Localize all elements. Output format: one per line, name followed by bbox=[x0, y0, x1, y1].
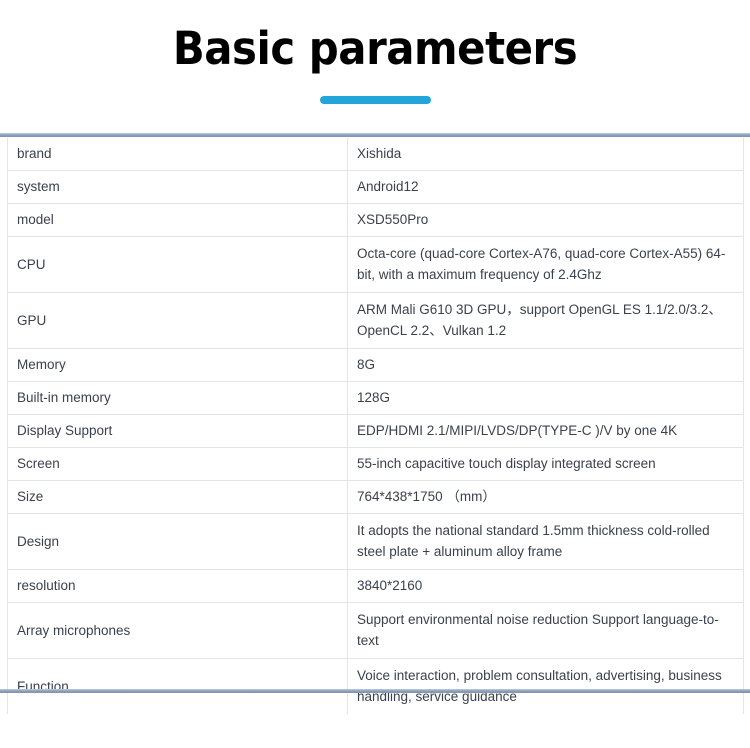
spec-label-cell: Size bbox=[8, 481, 348, 514]
spec-value-cell: ARM Mali G610 3D GPU，support OpenGL ES 1… bbox=[348, 293, 744, 349]
table-row: resolution3840*2160 bbox=[8, 570, 744, 603]
spec-value-cell: Octa-core (quad-core Cortex-A76, quad-co… bbox=[348, 237, 744, 293]
spec-label-cell: Design bbox=[8, 514, 348, 570]
table-row: Size764*438*1750 （mm） bbox=[8, 481, 744, 514]
table-top-rule bbox=[0, 133, 750, 137]
table-row: Built-in memory128G bbox=[8, 382, 744, 415]
table-row: FunctionVoice interaction, problem consu… bbox=[8, 659, 744, 715]
table-row: Display SupportEDP/HDMI 2.1/MIPI/LVDS/DP… bbox=[8, 415, 744, 448]
spec-table-container: brandXishidasystemAndroid12modelXSD550Pr… bbox=[7, 138, 743, 714]
spec-table: brandXishidasystemAndroid12modelXSD550Pr… bbox=[7, 138, 744, 714]
title-accent-bar bbox=[320, 96, 431, 104]
spec-table-body: brandXishidasystemAndroid12modelXSD550Pr… bbox=[8, 138, 744, 714]
spec-value-cell: 8G bbox=[348, 349, 744, 382]
spec-sheet-page: Basic parameters brandXishidasystemAndro… bbox=[0, 0, 750, 748]
spec-label-cell: resolution bbox=[8, 570, 348, 603]
spec-value-cell: 128G bbox=[348, 382, 744, 415]
spec-value-cell: 55-inch capacitive touch display integra… bbox=[348, 448, 744, 481]
spec-label-cell: model bbox=[8, 204, 348, 237]
table-bottom-rule bbox=[0, 689, 750, 693]
spec-label-cell: system bbox=[8, 171, 348, 204]
spec-value-cell: Voice interaction, problem consultation,… bbox=[348, 659, 744, 715]
spec-label-cell: Array microphones bbox=[8, 603, 348, 659]
spec-label-cell: brand bbox=[8, 138, 348, 171]
table-row: CPUOcta-core (quad-core Cortex-A76, quad… bbox=[8, 237, 744, 293]
spec-value-cell: EDP/HDMI 2.1/MIPI/LVDS/DP(TYPE-C )/V by … bbox=[348, 415, 744, 448]
spec-label-cell: CPU bbox=[8, 237, 348, 293]
table-row: Screen55-inch capacitive touch display i… bbox=[8, 448, 744, 481]
table-row: brandXishida bbox=[8, 138, 744, 171]
spec-label-cell: Display Support bbox=[8, 415, 348, 448]
table-row: Memory8G bbox=[8, 349, 744, 382]
title-block: Basic parameters bbox=[0, 0, 750, 104]
spec-value-cell: It adopts the national standard 1.5mm th… bbox=[348, 514, 744, 570]
page-title: Basic parameters bbox=[26, 22, 724, 75]
spec-label-cell: GPU bbox=[8, 293, 348, 349]
spec-label-cell: Memory bbox=[8, 349, 348, 382]
table-row: Array microphonesSupport environmental n… bbox=[8, 603, 744, 659]
spec-label-cell: Built-in memory bbox=[8, 382, 348, 415]
spec-label-cell: Screen bbox=[8, 448, 348, 481]
spec-value-cell: 764*438*1750 （mm） bbox=[348, 481, 744, 514]
spec-value-cell: Android12 bbox=[348, 171, 744, 204]
table-row: modelXSD550Pro bbox=[8, 204, 744, 237]
spec-label-cell: Function bbox=[8, 659, 348, 715]
spec-value-cell: Support environmental noise reduction Su… bbox=[348, 603, 744, 659]
table-row: GPUARM Mali G610 3D GPU，support OpenGL E… bbox=[8, 293, 744, 349]
spec-value-cell: XSD550Pro bbox=[348, 204, 744, 237]
spec-value-cell: Xishida bbox=[348, 138, 744, 171]
table-row: systemAndroid12 bbox=[8, 171, 744, 204]
spec-value-cell: 3840*2160 bbox=[348, 570, 744, 603]
table-row: DesignIt adopts the national standard 1.… bbox=[8, 514, 744, 570]
